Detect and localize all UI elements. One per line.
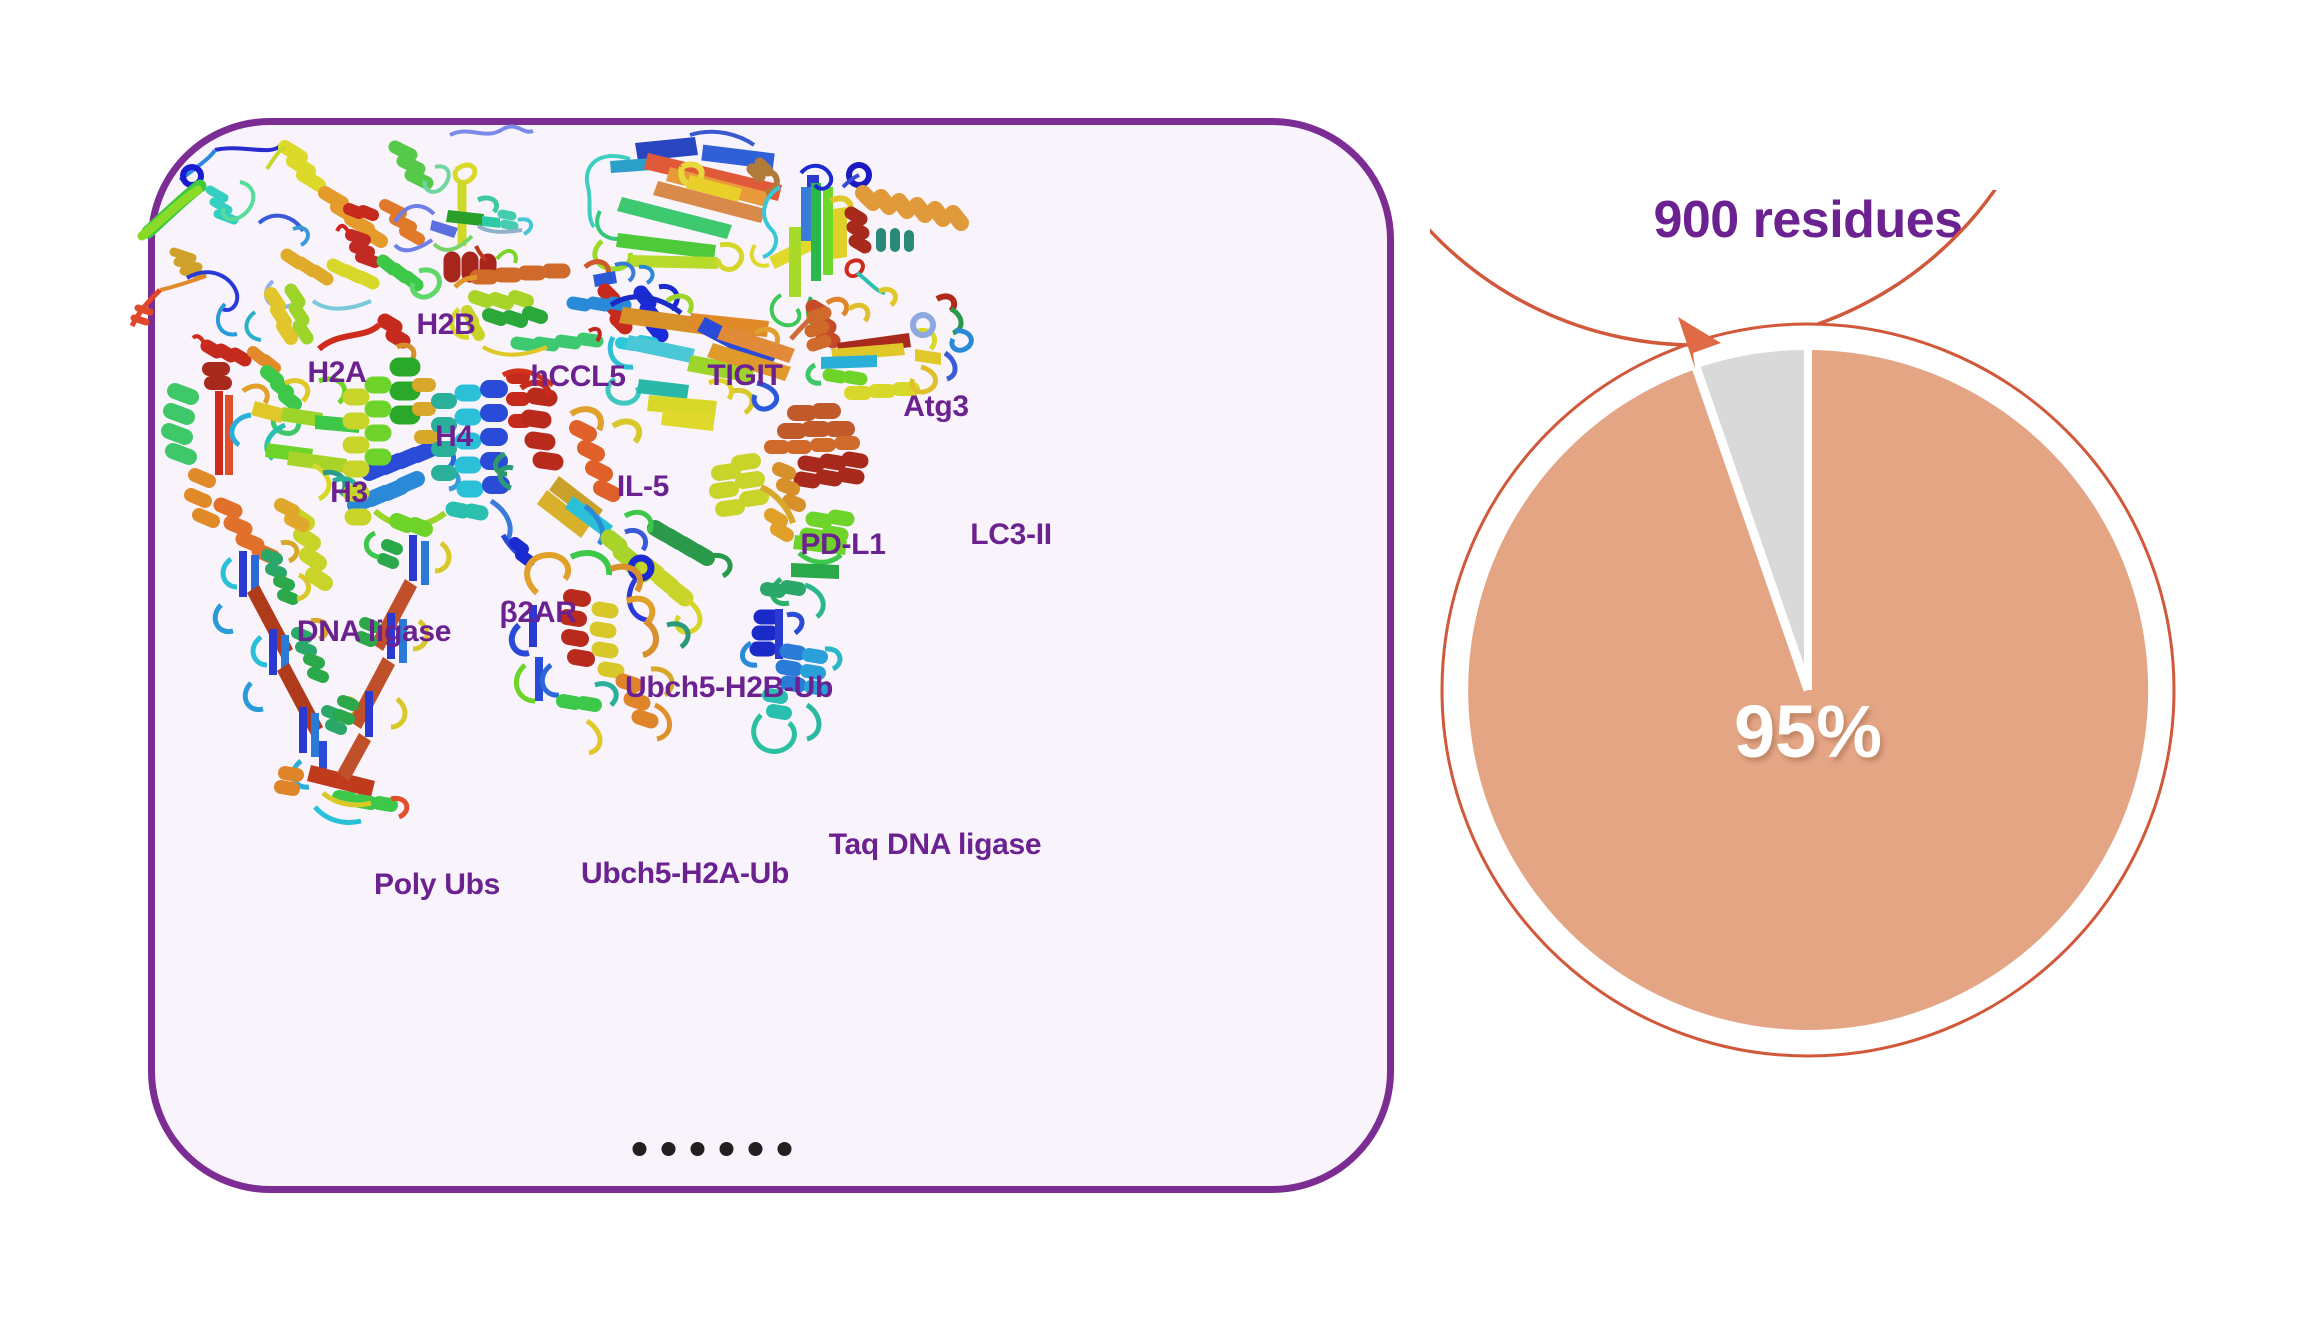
protein-gallery-card: H2A H2B hCCL5 TIGIT Atg3 H4 H3 IL-5 PD-L… (148, 118, 1394, 1193)
protein-label-ubch5-h2b-ub: Ubch5-H2B-Ub (625, 671, 833, 705)
ellipsis-dot (633, 1142, 647, 1156)
protein-structure-ubch5-h2a-ub (495, 545, 745, 775)
residue-coverage-pie-chart: 900 residues 95% (1430, 190, 2190, 1190)
protein-label-hccl5: hCCL5 (530, 360, 625, 394)
protein-label-pdl1: PD-L1 (800, 528, 885, 562)
pie-progress-arrowhead (1678, 317, 1721, 368)
more-items-ellipsis (633, 1142, 792, 1156)
protein-label-il5: IL-5 (617, 470, 669, 504)
protein-label-h2a: H2A (307, 356, 366, 390)
protein-structure-tigit (540, 115, 790, 295)
ellipsis-dot (691, 1142, 705, 1156)
protein-label-h2b: H2B (416, 308, 475, 342)
ellipsis-dot (749, 1142, 763, 1156)
protein-structure-atg3 (745, 157, 1015, 357)
protein-label-tigit: TIGIT (707, 359, 782, 393)
protein-label-beta2ar: β2AR (499, 596, 576, 630)
pie-progress-arc (1430, 190, 2062, 345)
protein-label-ubch5-h2a-ub: Ubch5-H2A-Ub (581, 857, 789, 891)
protein-structure-poly-ubs (215, 525, 505, 845)
protein-label-lc3ii: LC3-II (970, 518, 1052, 552)
protein-structure-hccl5 (390, 150, 570, 330)
protein-structure-taq-dna-ligase (695, 395, 945, 795)
protein-structure-h2a (120, 140, 350, 330)
ellipsis-dot (662, 1142, 676, 1156)
protein-structure-dna-ligase (155, 355, 495, 615)
protein-label-h4: H4 (435, 420, 473, 454)
protein-label-h3: H3 (330, 476, 368, 510)
pie-center-percentage: 95% (1734, 689, 1882, 774)
protein-label-dna-ligase: DNA ligase (297, 615, 451, 649)
protein-structure-h2b (245, 107, 535, 307)
protein-label-atg3: Atg3 (903, 390, 968, 424)
protein-label-taq-dna-ligase: Taq DNA ligase (829, 828, 1042, 862)
protein-structure-h3 (185, 260, 395, 440)
ellipsis-dot (778, 1142, 792, 1156)
figure-root: H2A H2B hCCL5 TIGIT Atg3 H4 H3 IL-5 PD-L… (0, 0, 2298, 1320)
ellipsis-dot (720, 1142, 734, 1156)
protein-label-poly-ubs: Poly Ubs (374, 868, 500, 902)
